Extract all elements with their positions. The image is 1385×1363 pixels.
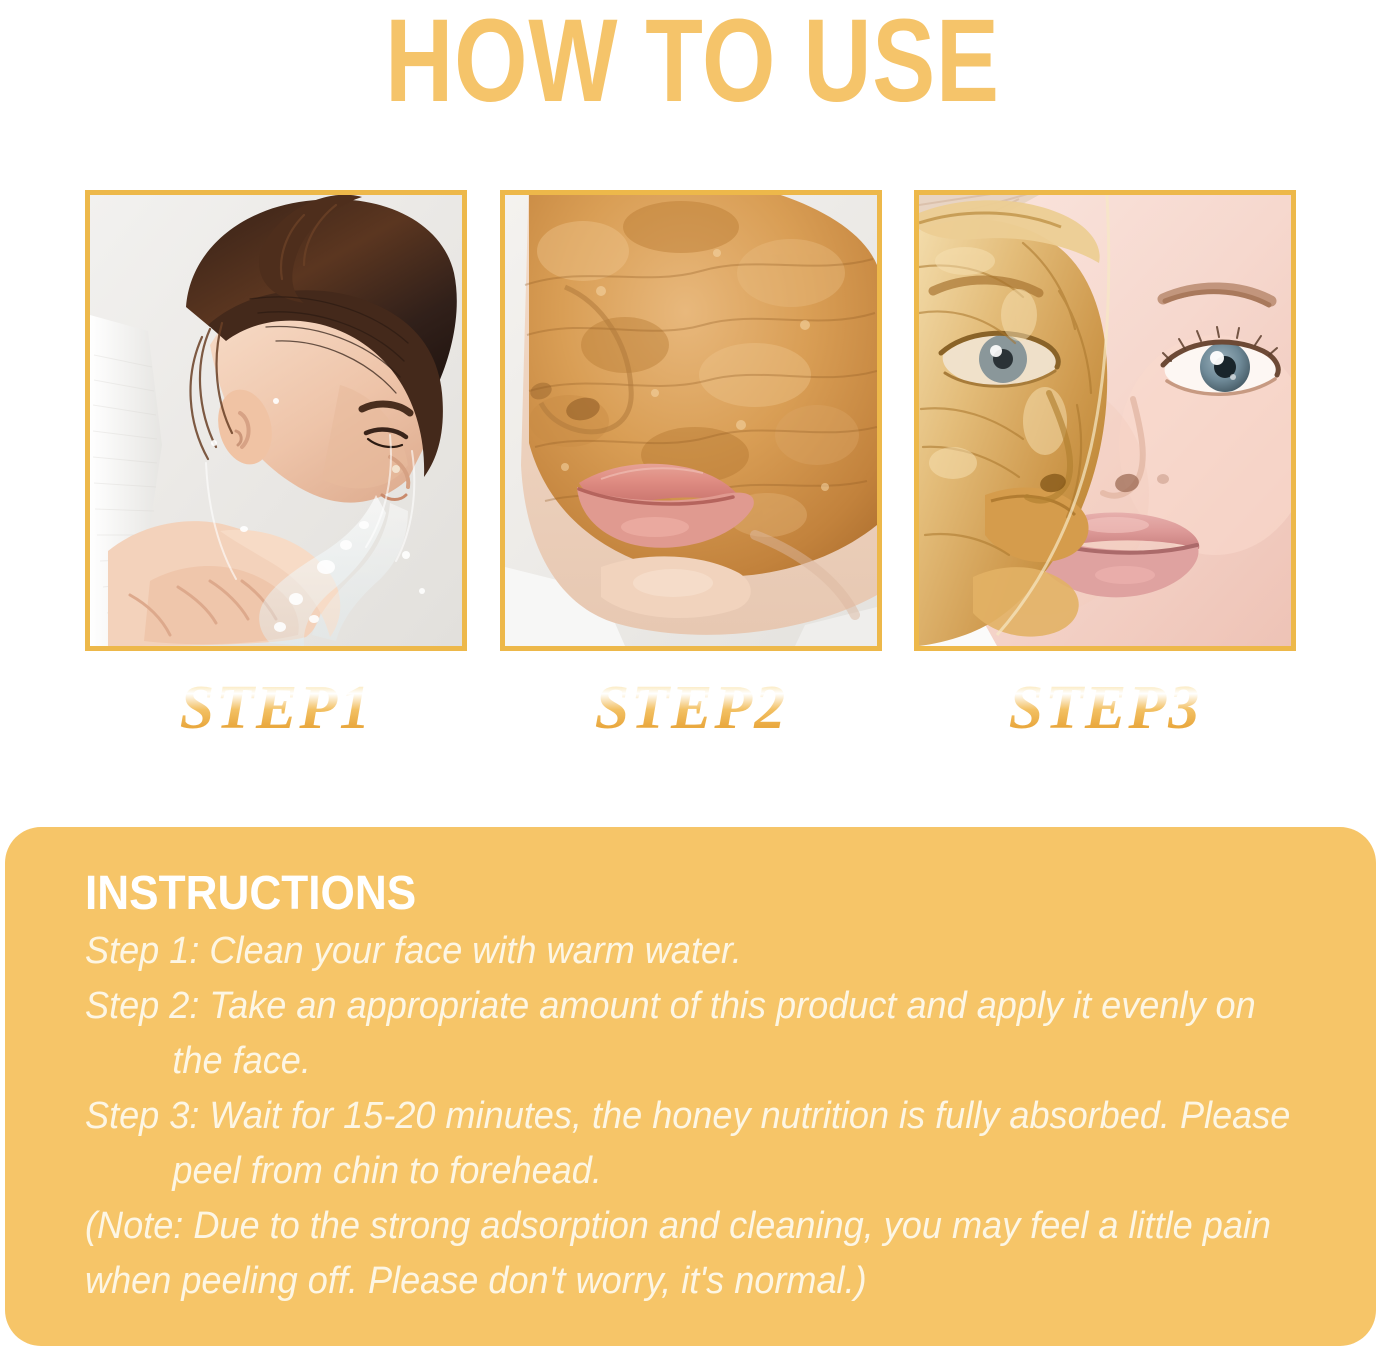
page-title: HOW TO USE bbox=[139, 2, 1247, 120]
instruction-line: (Note: Due to the strong adsorption and … bbox=[85, 1199, 1282, 1254]
instruction-line: when peeling off. Please don't worry, it… bbox=[85, 1254, 1282, 1309]
honey-mask-on-face-icon bbox=[505, 195, 877, 646]
instructions-heading: INSTRUCTIONS bbox=[85, 868, 416, 920]
instructions-body: Step 1: Clean your face with warm water.… bbox=[85, 924, 1345, 1309]
instruction-line: peel from chin to forehead. bbox=[85, 1144, 1282, 1199]
step-photo-1 bbox=[85, 190, 467, 651]
step-label-1: STEP1 bbox=[85, 672, 467, 744]
instruction-line: Step 2: Take an appropriate amount of th… bbox=[85, 979, 1282, 1034]
instruction-line: Step 3: Wait for 15-20 minutes, the hone… bbox=[85, 1089, 1282, 1144]
instruction-line: Step 1: Clean your face with warm water. bbox=[85, 924, 1282, 979]
instructions-panel: INSTRUCTIONS Step 1: Clean your face wit… bbox=[5, 827, 1376, 1346]
step-photo-3 bbox=[914, 190, 1296, 651]
step-photo-2 bbox=[500, 190, 882, 651]
step-label-3: STEP3 bbox=[914, 672, 1296, 744]
woman-washing-face-icon bbox=[90, 195, 462, 646]
step-label-2: STEP2 bbox=[500, 672, 882, 744]
peeling-mask-icon bbox=[919, 195, 1291, 646]
instruction-line: the face. bbox=[85, 1034, 1282, 1089]
